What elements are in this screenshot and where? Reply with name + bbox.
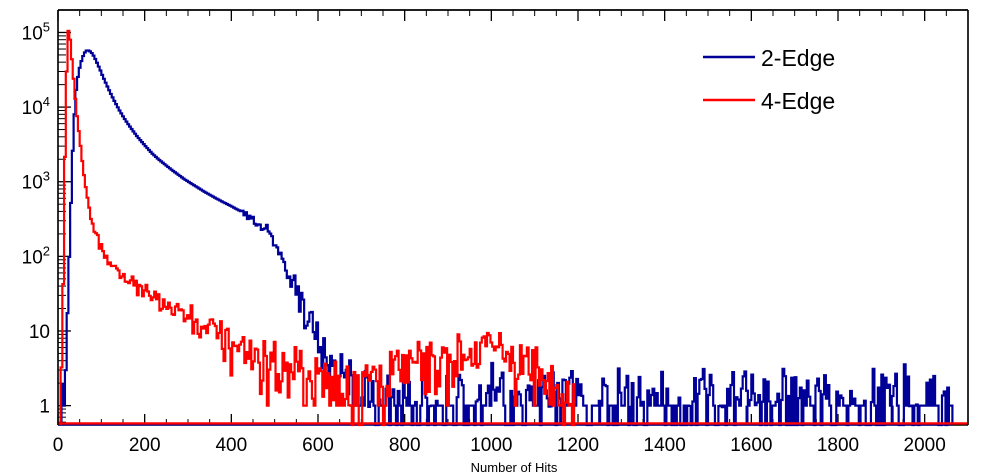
x-tick-label: 1800 [817, 435, 859, 456]
x-axis-title: Number of Hits [471, 460, 558, 472]
x-tick-label: 400 [215, 435, 247, 456]
x-tick-labels: 0200400600800100012001400160018002000 [53, 435, 946, 456]
x-tick-label: 200 [129, 435, 161, 456]
y-tick-labels: 110102103104105 [22, 19, 50, 417]
y-tick-label: 102 [22, 243, 50, 268]
y-tick-label: 1 [39, 397, 50, 418]
y-tick-label: 10 [29, 322, 50, 343]
plot-canvas: 0200400600800100012001400160018002000Num… [0, 0, 996, 472]
x-tick-label: 800 [389, 435, 421, 456]
y-tick-label: 104 [22, 94, 50, 119]
x-tick-label: 0 [53, 435, 64, 456]
x-tick-label: 2000 [904, 435, 946, 456]
histogram-figure: 0200400600800100012001400160018002000Num… [0, 0, 996, 472]
x-tick-label: 1000 [470, 435, 512, 456]
x-tick-label: 1600 [730, 435, 772, 456]
x-tick-label: 1400 [644, 435, 686, 456]
y-tick-label: 105 [22, 19, 50, 44]
y-tick-label: 103 [22, 169, 50, 194]
legend-label-4-edge: 4-Edge [761, 88, 835, 114]
legend-label-2-edge: 2-Edge [761, 45, 835, 71]
x-tick-label: 600 [302, 435, 334, 456]
x-tick-label: 1200 [557, 435, 599, 456]
